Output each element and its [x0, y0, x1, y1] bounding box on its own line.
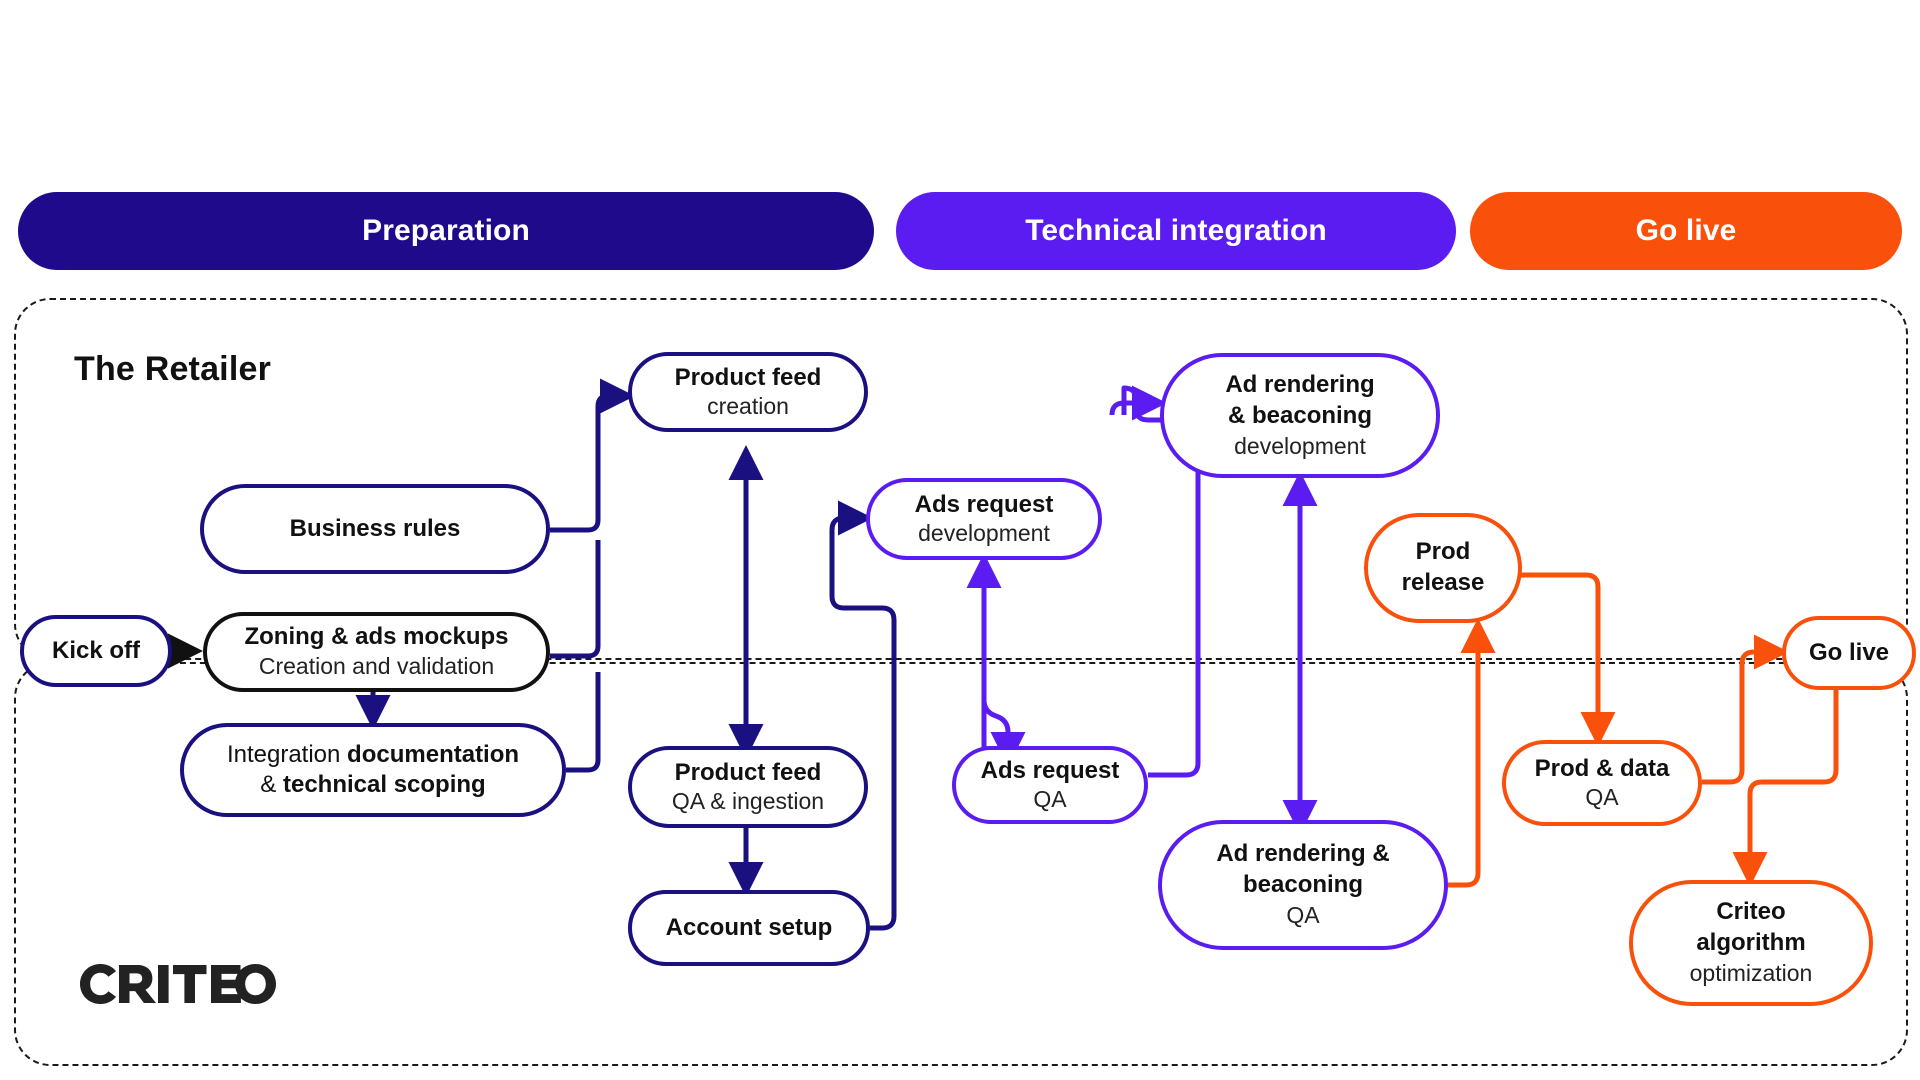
node-ad-rendering-dev-subtitle: development	[1234, 434, 1366, 460]
node-business-rules[interactable]: Business rules	[200, 484, 550, 574]
phase-label-preparation: Preparation	[362, 214, 530, 248]
node-business-rules-title: Business rules	[290, 516, 461, 543]
phase-pill-preparation[interactable]: Preparation	[18, 192, 874, 270]
node-ads-request-development[interactable]: Ads request development	[866, 478, 1102, 560]
integration-doc-bold-1: documentation	[347, 741, 519, 768]
flowchart-canvas: Preparation Technical integration Go liv…	[0, 0, 1920, 1080]
node-criteo-algorithm-line1: Criteo	[1716, 899, 1785, 926]
node-ad-rendering-dev-line1: Ad rendering	[1225, 372, 1374, 399]
node-integration-documentation[interactable]: Integration documentation & technical sc…	[180, 723, 566, 817]
node-product-feed-qa[interactable]: Product feed QA & ingestion	[628, 746, 868, 828]
phase-label-go-live: Go live	[1636, 214, 1737, 248]
node-prod-release[interactable]: Prod release	[1364, 513, 1522, 623]
swimlane-title-retailer: The Retailer	[74, 350, 271, 389]
node-kick-off-title: Kick off	[52, 638, 140, 665]
criteo-logo	[78, 962, 278, 1006]
node-criteo-algorithm-optimization[interactable]: Criteo algorithm optimization	[1629, 880, 1873, 1006]
node-go-live[interactable]: Go live	[1782, 616, 1916, 690]
node-ads-request-qa[interactable]: Ads request QA	[952, 746, 1148, 824]
node-account-setup-title: Account setup	[666, 915, 833, 942]
node-ads-request-development-title: Ads request	[915, 492, 1054, 519]
node-ad-rendering-beaconing-qa[interactable]: Ad rendering & beaconing QA	[1158, 820, 1448, 950]
node-zoning-title: Zoning & ads mockups	[244, 624, 508, 651]
node-ad-rendering-qa-subtitle: QA	[1286, 903, 1319, 929]
node-ad-rendering-qa-line2: beaconing	[1243, 872, 1363, 899]
node-zoning-ads-mockups[interactable]: Zoning & ads mockups Creation and valida…	[203, 612, 550, 692]
node-criteo-algorithm-subtitle: optimization	[1690, 961, 1813, 987]
node-integration-doc-line2: & technical scoping	[260, 772, 485, 799]
node-ads-request-qa-title: Ads request	[981, 758, 1120, 785]
node-product-feed-creation-subtitle: creation	[707, 394, 789, 420]
node-zoning-subtitle: Creation and validation	[259, 654, 494, 680]
node-criteo-algorithm-line2: algorithm	[1696, 930, 1805, 957]
node-kick-off[interactable]: Kick off	[20, 615, 172, 687]
node-ad-rendering-qa-line1: Ad rendering &	[1216, 841, 1389, 868]
node-prod-data-qa-subtitle: QA	[1585, 785, 1618, 811]
node-ads-request-development-subtitle: development	[918, 521, 1050, 547]
integration-doc-plain-2: &	[260, 771, 283, 798]
phase-pill-go-live[interactable]: Go live	[1470, 192, 1902, 270]
node-ad-rendering-dev-line2: & beaconing	[1228, 403, 1372, 430]
node-ad-rendering-beaconing-development[interactable]: Ad rendering & beaconing development	[1160, 353, 1440, 478]
node-go-live-title: Go live	[1809, 640, 1889, 667]
phase-label-technical-integration: Technical integration	[1025, 214, 1327, 248]
integration-doc-plain-1: Integration	[227, 741, 347, 768]
node-product-feed-creation[interactable]: Product feed creation	[628, 352, 868, 432]
node-prod-release-line1: Prod	[1416, 539, 1471, 566]
node-prod-release-line2: release	[1402, 570, 1485, 597]
node-prod-data-qa-title: Prod & data	[1535, 756, 1670, 783]
node-account-setup[interactable]: Account setup	[628, 890, 870, 966]
phase-pill-technical-integration[interactable]: Technical integration	[896, 192, 1456, 270]
integration-doc-bold-2: technical scoping	[283, 771, 486, 798]
node-prod-data-qa[interactable]: Prod & data QA	[1502, 740, 1702, 826]
phase-header-bar: Preparation Technical integration Go liv…	[0, 192, 1920, 270]
node-ads-request-qa-subtitle: QA	[1033, 787, 1066, 813]
node-product-feed-qa-title: Product feed	[675, 760, 822, 787]
node-product-feed-qa-subtitle: QA & ingestion	[672, 789, 824, 815]
node-product-feed-creation-title: Product feed	[675, 365, 822, 392]
node-integration-doc-line1: Integration documentation	[227, 742, 519, 769]
